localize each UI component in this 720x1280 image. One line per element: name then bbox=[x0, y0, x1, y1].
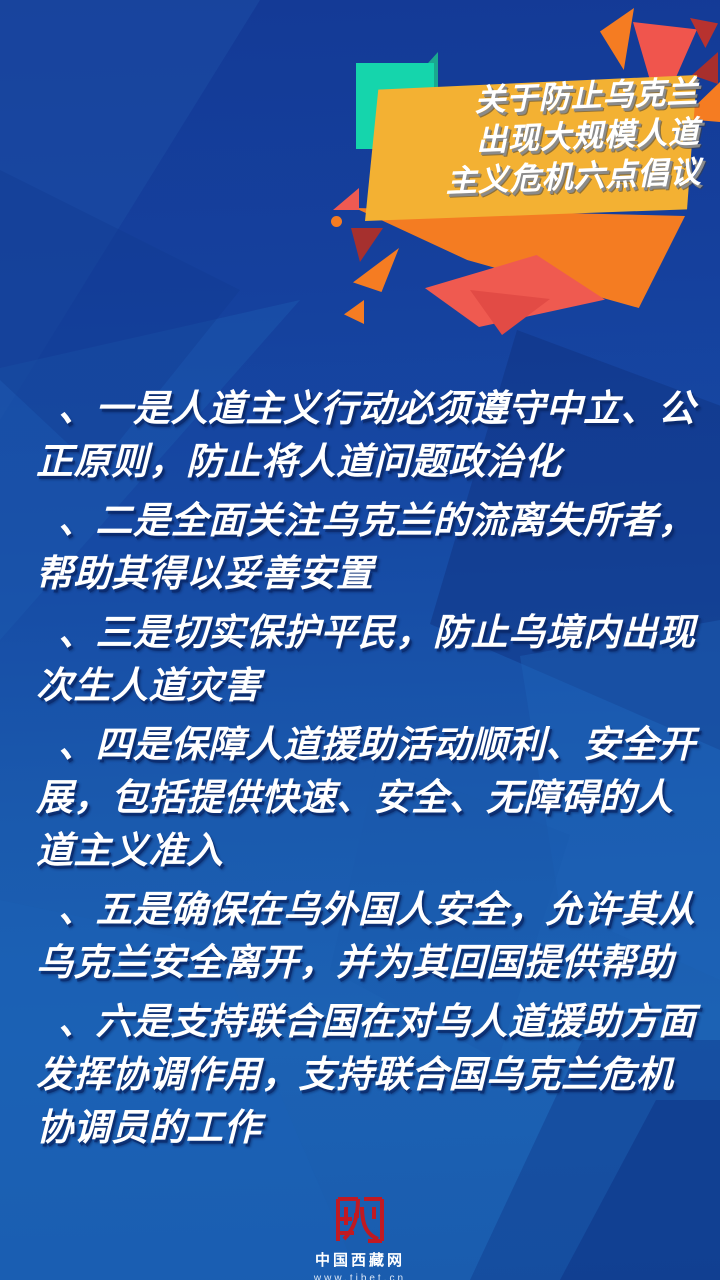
footer: 中国西藏网 www.tibet.cn bbox=[0, 1195, 720, 1280]
list-item-text-4: 、四是保障人道援助活动顺利、安全开展，包括提供快速、安全、无障碍的人道主义准入 bbox=[36, 718, 696, 877]
list-item-text-6: 、六是支持联合国在对乌人道援助方面发挥协调作用，支持联合国乌克兰危机协调员的工作 bbox=[36, 995, 696, 1154]
footer-site-url: www.tibet.cn bbox=[0, 1271, 720, 1280]
orange-triangle-decoration bbox=[344, 300, 364, 324]
dark-red-triangle-decoration bbox=[351, 228, 383, 262]
list-item-text-2: 、二是全面关注乌克兰的流离失所者，帮助其得以妥善安置 bbox=[36, 494, 696, 600]
list-item: 、六是支持联合国在对乌人道援助方面发挥协调作用，支持联合国乌克兰危机协调员的工作 bbox=[36, 995, 696, 1154]
list-item: 、一是人道主义行动必须遵守中立、公正原则，防止将人道问题政治化 bbox=[36, 382, 696, 488]
list-item: 、四是保障人道援助活动顺利、安全开展，包括提供快速、安全、无障碍的人道主义准入 bbox=[36, 718, 696, 877]
list-item-text-1: 、一是人道主义行动必须遵守中立、公正原则，防止将人道问题政治化 bbox=[36, 382, 696, 488]
footer-site-name: 中国西藏网 bbox=[0, 1251, 720, 1271]
list-item: 、三是切实保护平民，防止乌境内出现次生人道灾害 bbox=[36, 606, 696, 712]
orange-triangle-decoration bbox=[600, 8, 634, 70]
list-item: 、五是确保在乌外国人安全，允许其从乌克兰安全离开，并为其回国提供帮助 bbox=[36, 883, 696, 989]
orange-dot-decoration bbox=[331, 216, 342, 227]
poster-root: 关于防止乌克兰 出现大规模人道 主义危机六点倡议 、一是人道主义行动必须遵守中立… bbox=[0, 0, 720, 1280]
red-ribbon-decoration bbox=[470, 290, 550, 335]
background-facet bbox=[0, 0, 260, 420]
tibet-seal-logo-icon bbox=[332, 1195, 388, 1245]
red-triangle-decoration bbox=[333, 188, 359, 210]
dark-red-triangle-decoration bbox=[690, 18, 718, 48]
list-item: 、二是全面关注乌克兰的流离失所者，帮助其得以妥善安置 bbox=[36, 494, 696, 600]
list-item-text-5: 、五是确保在乌外国人安全，允许其从乌克兰安全离开，并为其回国提供帮助 bbox=[36, 883, 696, 989]
proposal-list: 、一是人道主义行动必须遵守中立、公正原则，防止将人道问题政治化 、二是全面关注乌… bbox=[36, 382, 696, 1160]
list-item-text-3: 、三是切实保护平民，防止乌境内出现次生人道灾害 bbox=[36, 606, 696, 712]
page-title: 关于防止乌克兰 出现大规模人道 主义危机六点倡议 bbox=[398, 72, 702, 203]
orange-ribbon-decoration bbox=[355, 208, 685, 308]
red-ribbon-decoration bbox=[425, 255, 605, 327]
orange-triangle-decoration bbox=[353, 248, 399, 292]
